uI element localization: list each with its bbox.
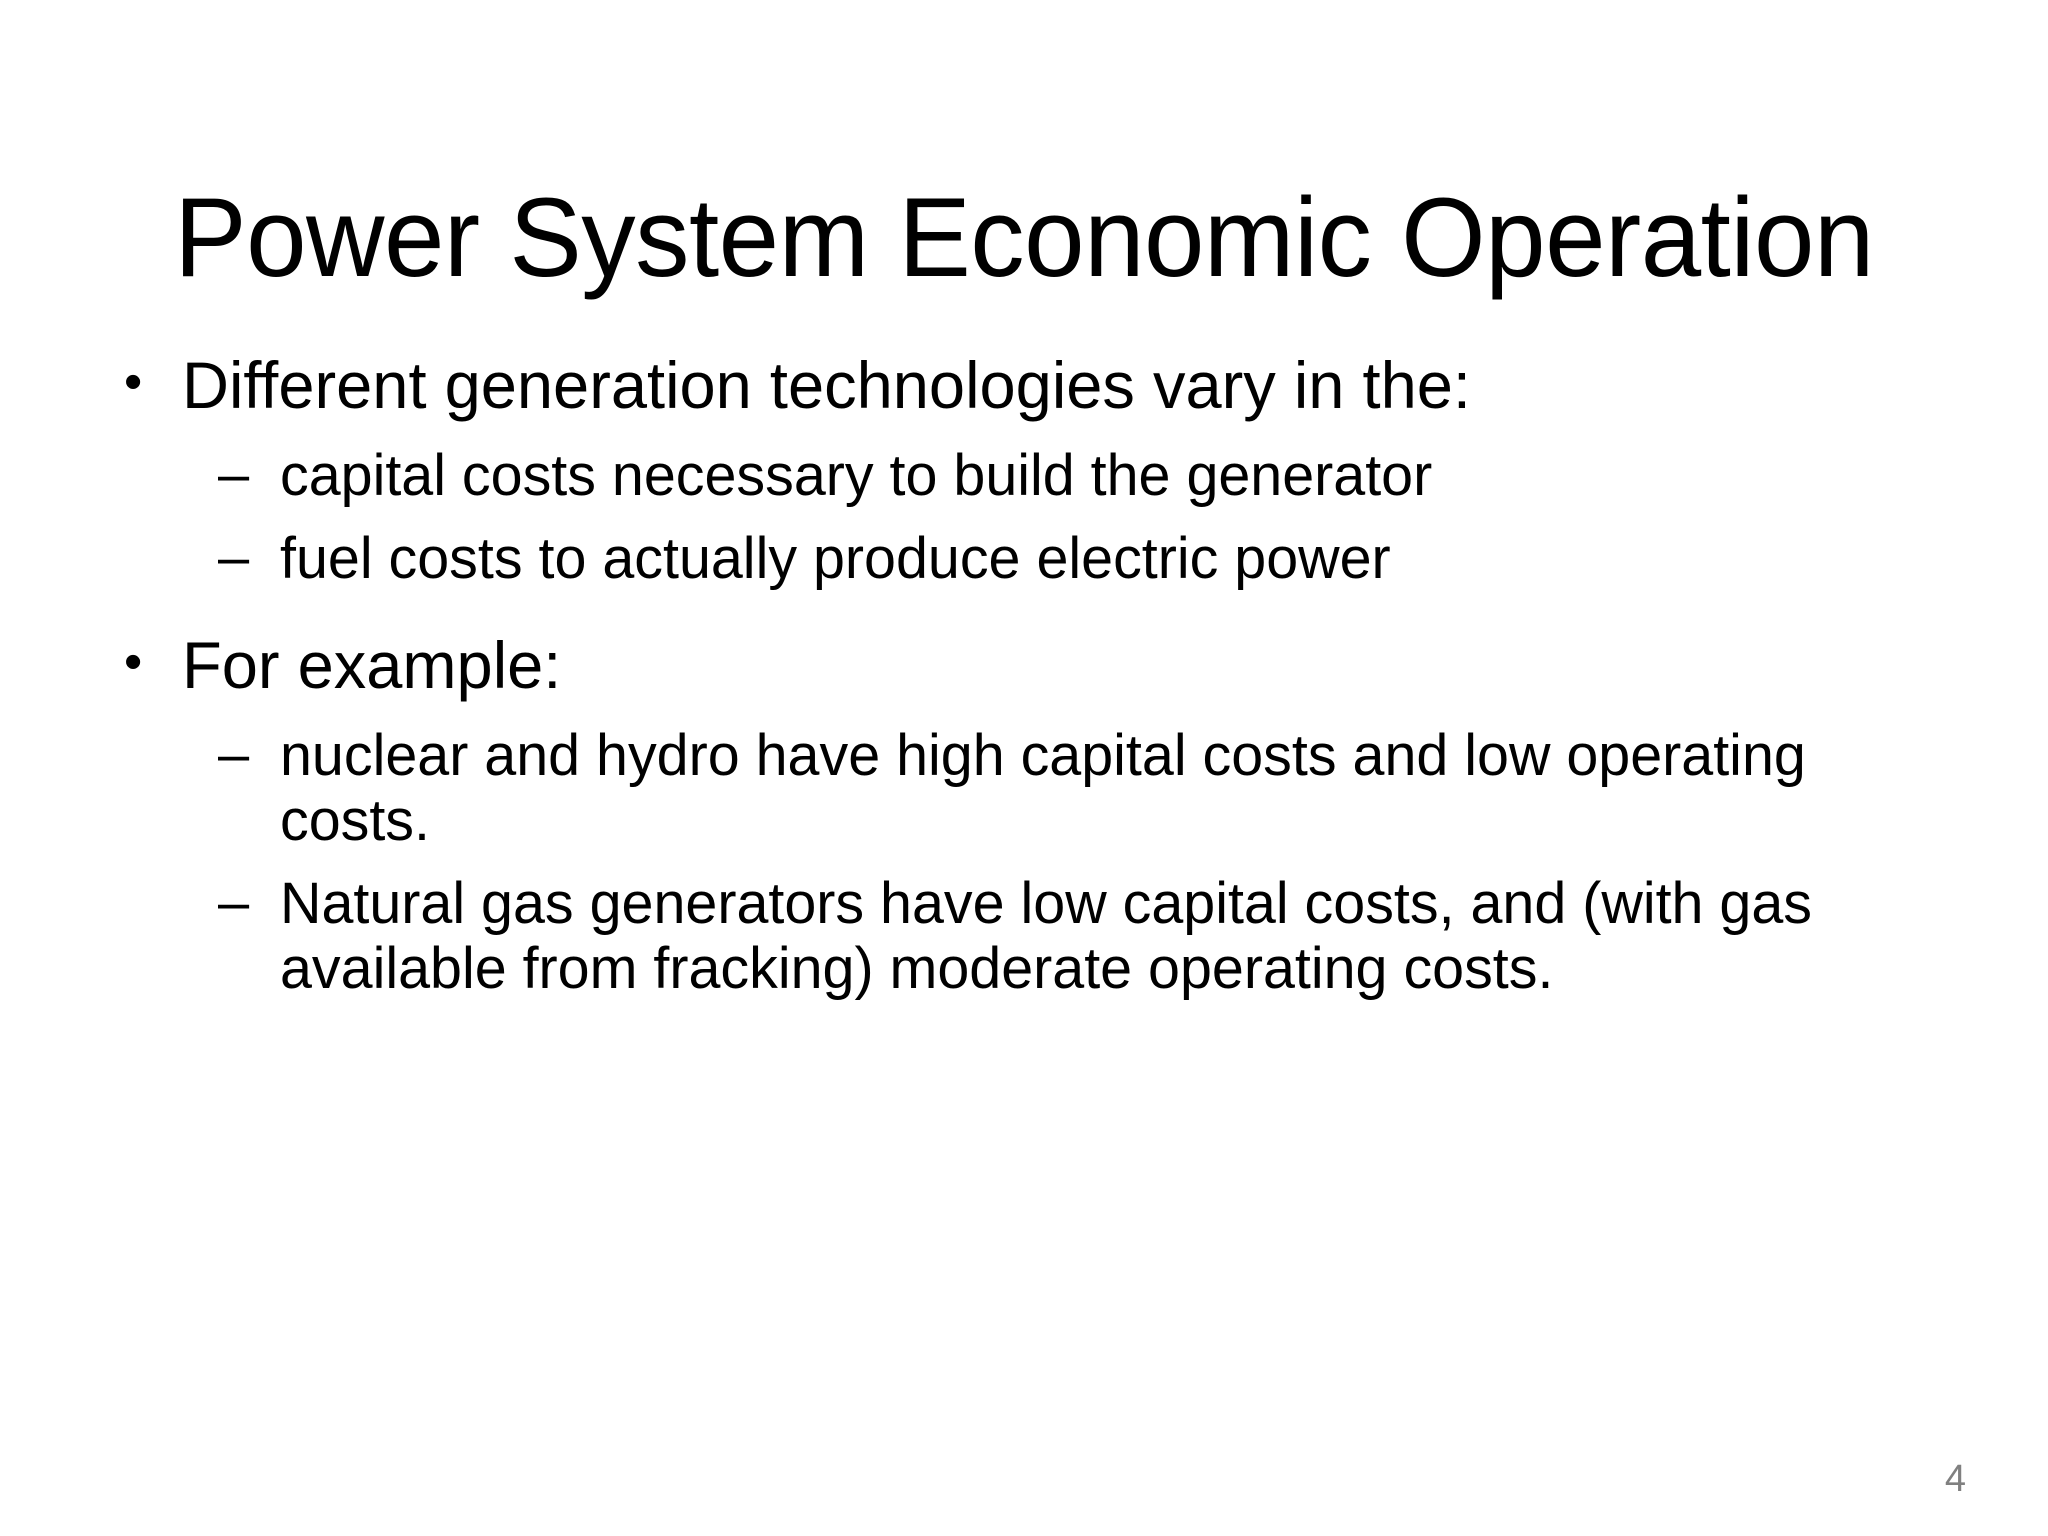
bullet-text: capital costs necessary to build the gen… — [280, 444, 1963, 509]
bullet-text: nuclear and hydro have high capital cost… — [280, 724, 1963, 854]
bullet-item-level2: – capital costs necessary to build the g… — [110, 444, 1980, 509]
bullet-dash-icon: – — [218, 527, 280, 587]
slide-body-content: • Different generation technologies vary… — [110, 352, 1980, 1382]
bullet-dash-icon: – — [218, 724, 280, 784]
bullet-dash-icon: – — [218, 444, 280, 504]
bullet-text: Natural gas generators have low capital … — [280, 872, 1963, 1002]
presentation-slide: Power System Economic Operation • Differ… — [0, 0, 2048, 1536]
bullet-text: Different generation technologies vary i… — [182, 352, 1953, 418]
slide-title: Power System Economic Operation — [124, 163, 1924, 313]
bullet-text: For example: — [182, 632, 1953, 698]
bullet-dot-icon: • — [110, 352, 182, 413]
bullet-item-level2: – Natural gas generators have low capita… — [110, 872, 1980, 1002]
bullet-item-level1: • For example: — [110, 632, 1980, 698]
bullet-dot-icon: • — [110, 632, 182, 693]
bullet-item-level2: – fuel costs to actually produce electri… — [110, 527, 1980, 592]
bullet-text: fuel costs to actually produce electric … — [280, 527, 1963, 592]
bullet-item-level1: • Different generation technologies vary… — [110, 352, 1980, 418]
bullet-item-level2: – nuclear and hydro have high capital co… — [110, 724, 1980, 854]
slide-page-number: 4 — [1945, 1460, 1966, 1498]
bullet-dash-icon: – — [218, 872, 280, 932]
